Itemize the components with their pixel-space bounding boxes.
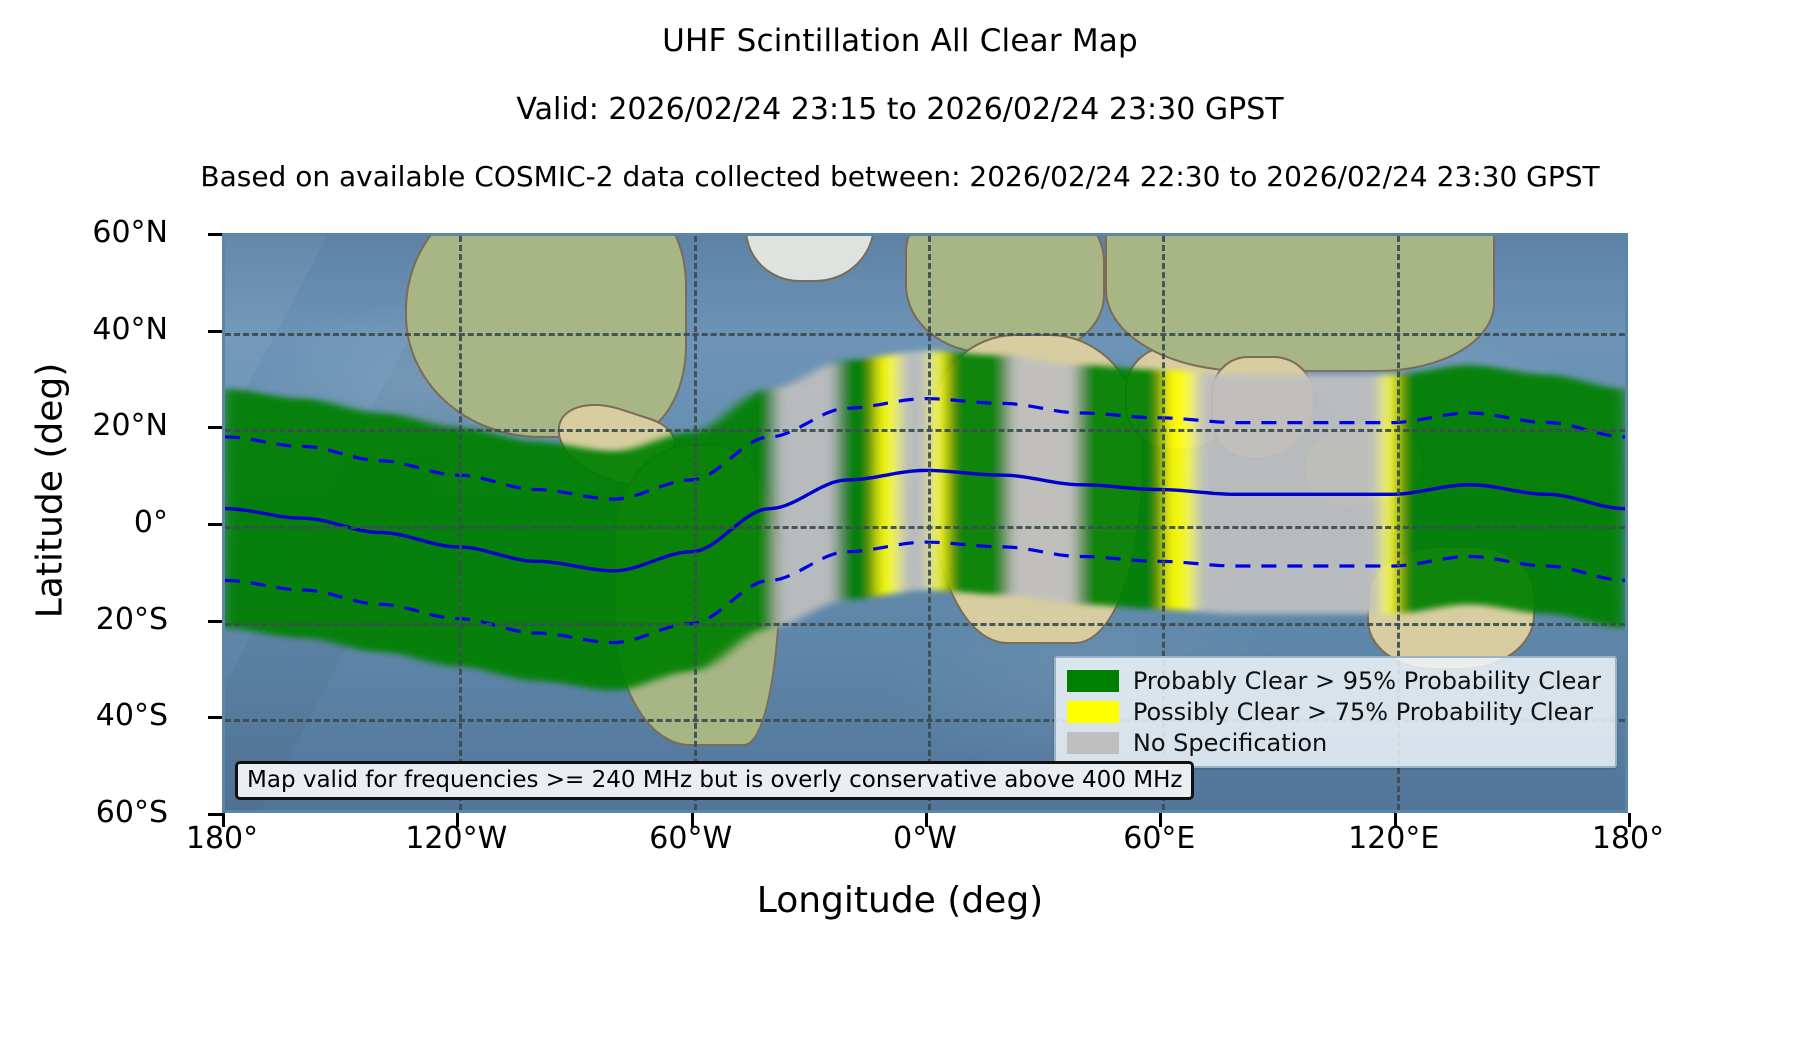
x-tick-label: 180° (186, 824, 258, 854)
y-tick-mark (208, 813, 222, 816)
y-tick-mark (208, 716, 222, 719)
y-tick-mark (208, 523, 222, 526)
y-tick-mark (208, 620, 222, 623)
x-tick-mark (691, 813, 694, 827)
x-tick-mark (1628, 813, 1631, 827)
y-tick-label: 40°N (92, 315, 168, 345)
legend: Probably Clear > 95% Probability Clear P… (1054, 656, 1617, 768)
x-axis-label: Longitude (deg) (0, 880, 1800, 921)
legend-item: No Specification (1067, 727, 1601, 758)
y-tick-label: 60°S (96, 798, 168, 828)
y-tick-label: 60°N (92, 218, 168, 248)
x-tick-label: 120°W (405, 824, 507, 854)
x-tick-label: 120°E (1348, 824, 1439, 854)
legend-label: Possibly Clear > 75% Probability Clear (1133, 700, 1593, 724)
y-tick-mark (208, 233, 222, 236)
legend-item: Possibly Clear > 75% Probability Clear (1067, 696, 1601, 727)
x-tick-label: 180° (1592, 824, 1664, 854)
title-block: UHF Scintillation All Clear Map Valid: 2… (0, 0, 1800, 191)
x-tick-label: 60°E (1123, 824, 1195, 854)
page-title: UHF Scintillation All Clear Map (0, 26, 1800, 57)
x-tick-mark (1394, 813, 1397, 827)
y-tick-label: 20°S (96, 605, 168, 635)
y-tick-mark (208, 330, 222, 333)
x-tick-mark (1159, 813, 1162, 827)
valid-period-subtitle: Valid: 2026/02/24 23:15 to 2026/02/24 23… (0, 95, 1800, 125)
x-tick-mark (925, 813, 928, 827)
frequency-validity-note: Map valid for frequencies >= 240 MHz but… (235, 761, 1194, 800)
y-tick-label: 0° (134, 508, 168, 538)
frequency-validity-note-text: Map valid for frequencies >= 240 MHz but… (247, 768, 1182, 792)
y-tick-mark (208, 426, 222, 429)
legend-swatch-probably-clear (1067, 670, 1119, 692)
y-tick-label: 40°S (96, 701, 168, 731)
x-tick-label: 60°W (649, 824, 732, 854)
legend-item: Probably Clear > 95% Probability Clear (1067, 665, 1601, 696)
map-plot-area[interactable]: Probably Clear > 95% Probability Clear P… (222, 233, 1628, 813)
legend-swatch-possibly-clear (1067, 701, 1119, 723)
x-tick-label: 0°W (893, 824, 957, 854)
x-tick-mark (456, 813, 459, 827)
legend-label: Probably Clear > 95% Probability Clear (1133, 669, 1601, 693)
data-source-subtitle: Based on available COSMIC-2 data collect… (0, 163, 1800, 191)
swath-band (1397, 365, 1625, 628)
y-tick-label: 20°N (92, 411, 168, 441)
legend-label: No Specification (1133, 731, 1327, 755)
y-axis-label: Latitude (deg) (30, 311, 71, 671)
legend-swatch-no-specification (1067, 732, 1119, 754)
swath-band (225, 388, 778, 690)
x-tick-mark (222, 813, 225, 827)
